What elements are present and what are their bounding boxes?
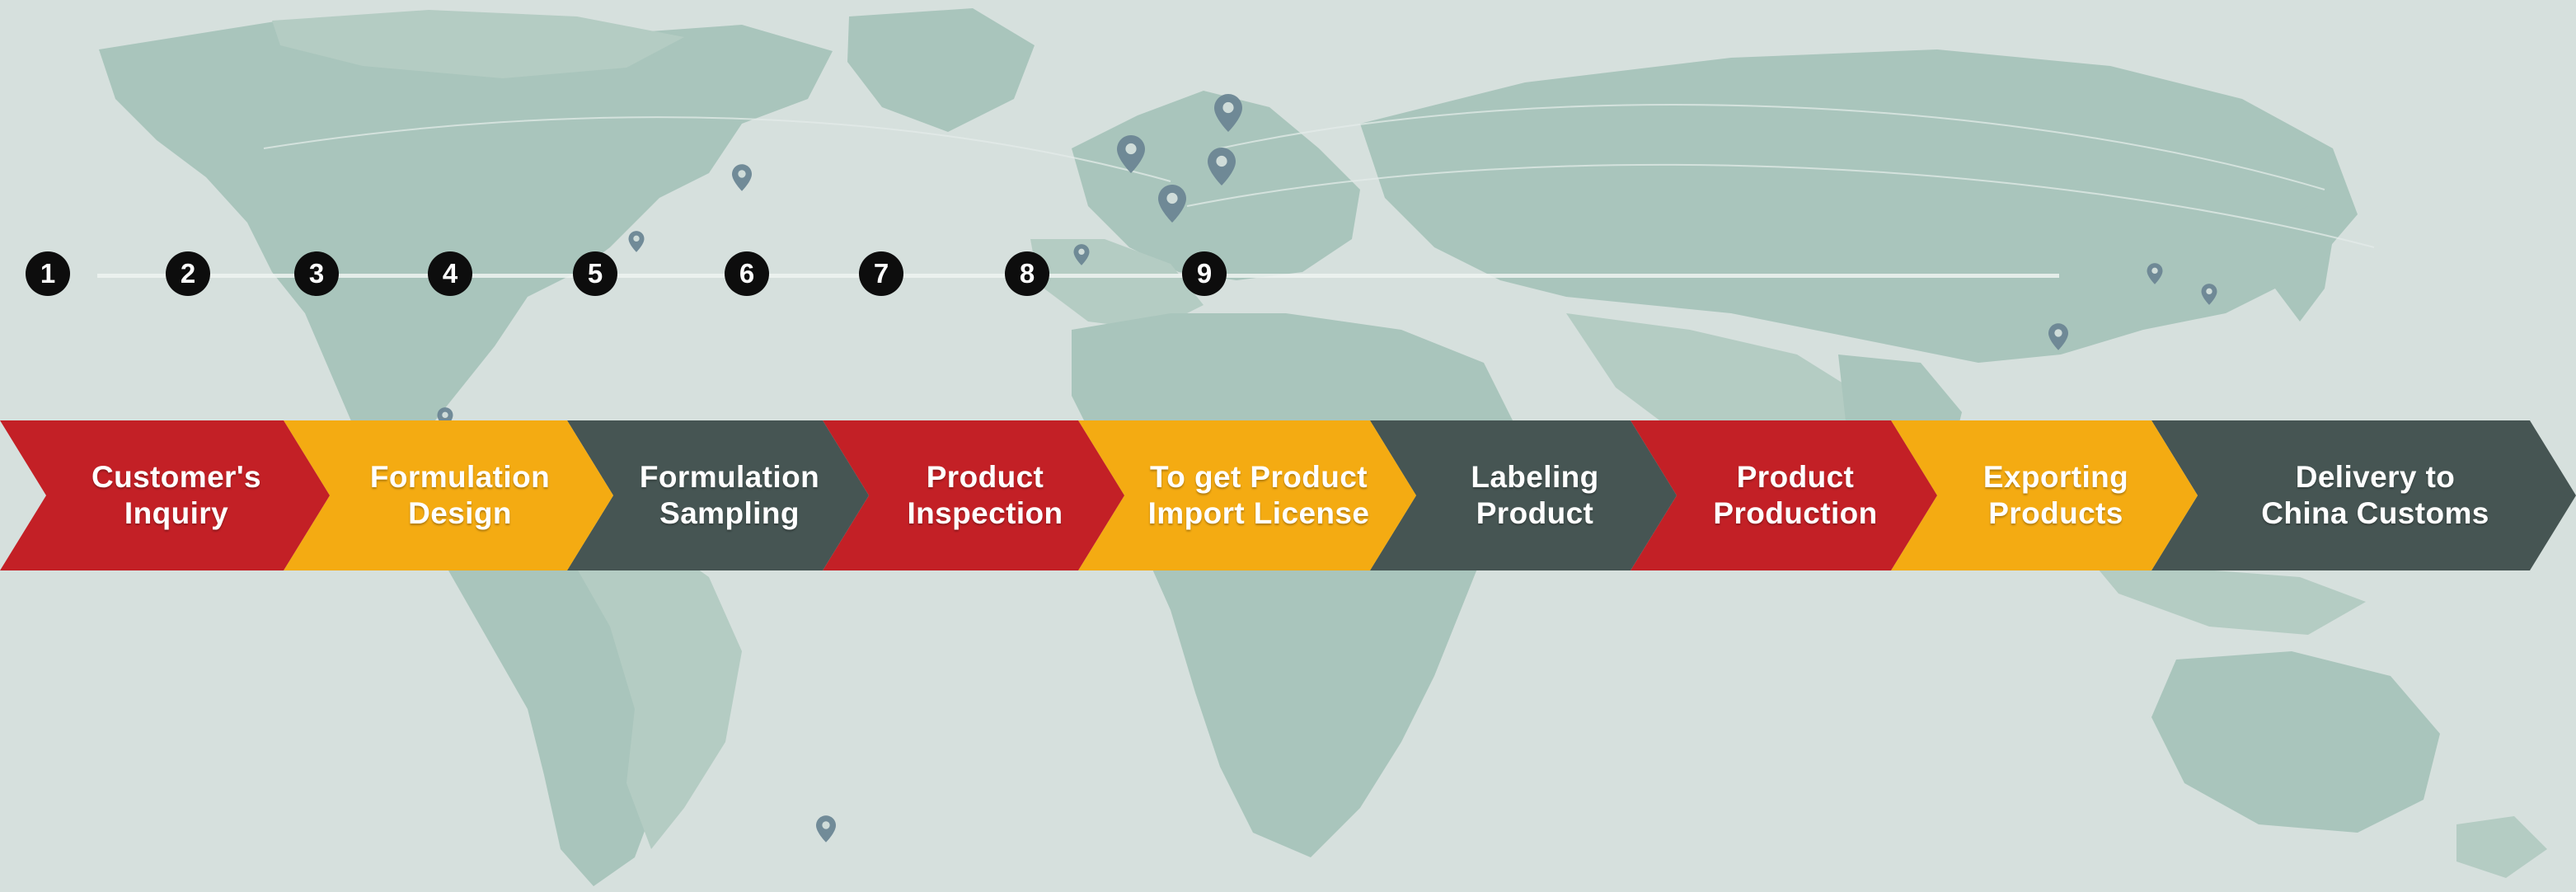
step-number-badge-7: 7 (859, 251, 903, 296)
infographic-canvas: 123456789 Customer's InquiryFormulation … (0, 0, 2576, 892)
process-step-label-3: Formulation Sampling (602, 459, 834, 531)
step-connector-line (97, 274, 2059, 278)
process-step-chevron-2[interactable]: Formulation Design (284, 420, 613, 570)
location-pin-icon (1074, 244, 1090, 265)
process-step-chevron-5[interactable]: To get Product Import License (1078, 420, 1416, 570)
process-step-label-7: Product Production (1675, 459, 1892, 531)
step-number-badge-9: 9 (1182, 251, 1227, 296)
location-pin-icon (1208, 148, 1236, 185)
process-step-label-1: Customer's Inquiry (54, 459, 276, 531)
step-number-badge-4: 4 (428, 251, 472, 296)
location-pin-icon (629, 231, 645, 252)
location-pin-icon (2202, 284, 2217, 305)
process-step-chevron-1[interactable]: Customer's Inquiry (0, 420, 330, 570)
location-pin-icon (732, 164, 752, 191)
process-chevron-band: Customer's InquiryFormulation DesignForm… (0, 420, 2576, 570)
process-step-chevron-9[interactable]: Delivery to China Customs (2151, 420, 2576, 570)
process-step-label-6: Labeling Product (1433, 459, 1613, 531)
step-number-badge-1: 1 (26, 251, 70, 296)
process-step-label-5: To get Product Import License (1110, 459, 1385, 531)
step-number-badge-6: 6 (725, 251, 769, 296)
step-number-badge-8: 8 (1005, 251, 1049, 296)
process-step-label-8: Exporting Products (1945, 459, 2143, 531)
process-step-label-2: Formulation Design (332, 459, 565, 531)
location-pin-icon (816, 815, 836, 843)
location-pin-icon (2147, 263, 2163, 284)
location-pin-icon (1214, 94, 1242, 132)
step-number-badge-2: 2 (166, 251, 210, 296)
step-number-badge-3: 3 (294, 251, 339, 296)
location-pin-icon (1117, 135, 1145, 173)
location-pin-icon (1158, 185, 1186, 223)
location-pin-icon (2048, 323, 2068, 350)
process-step-label-4: Product Inspection (869, 459, 1077, 531)
process-step-label-9: Delivery to China Customs (2223, 459, 2504, 531)
step-number-badge-5: 5 (573, 251, 617, 296)
